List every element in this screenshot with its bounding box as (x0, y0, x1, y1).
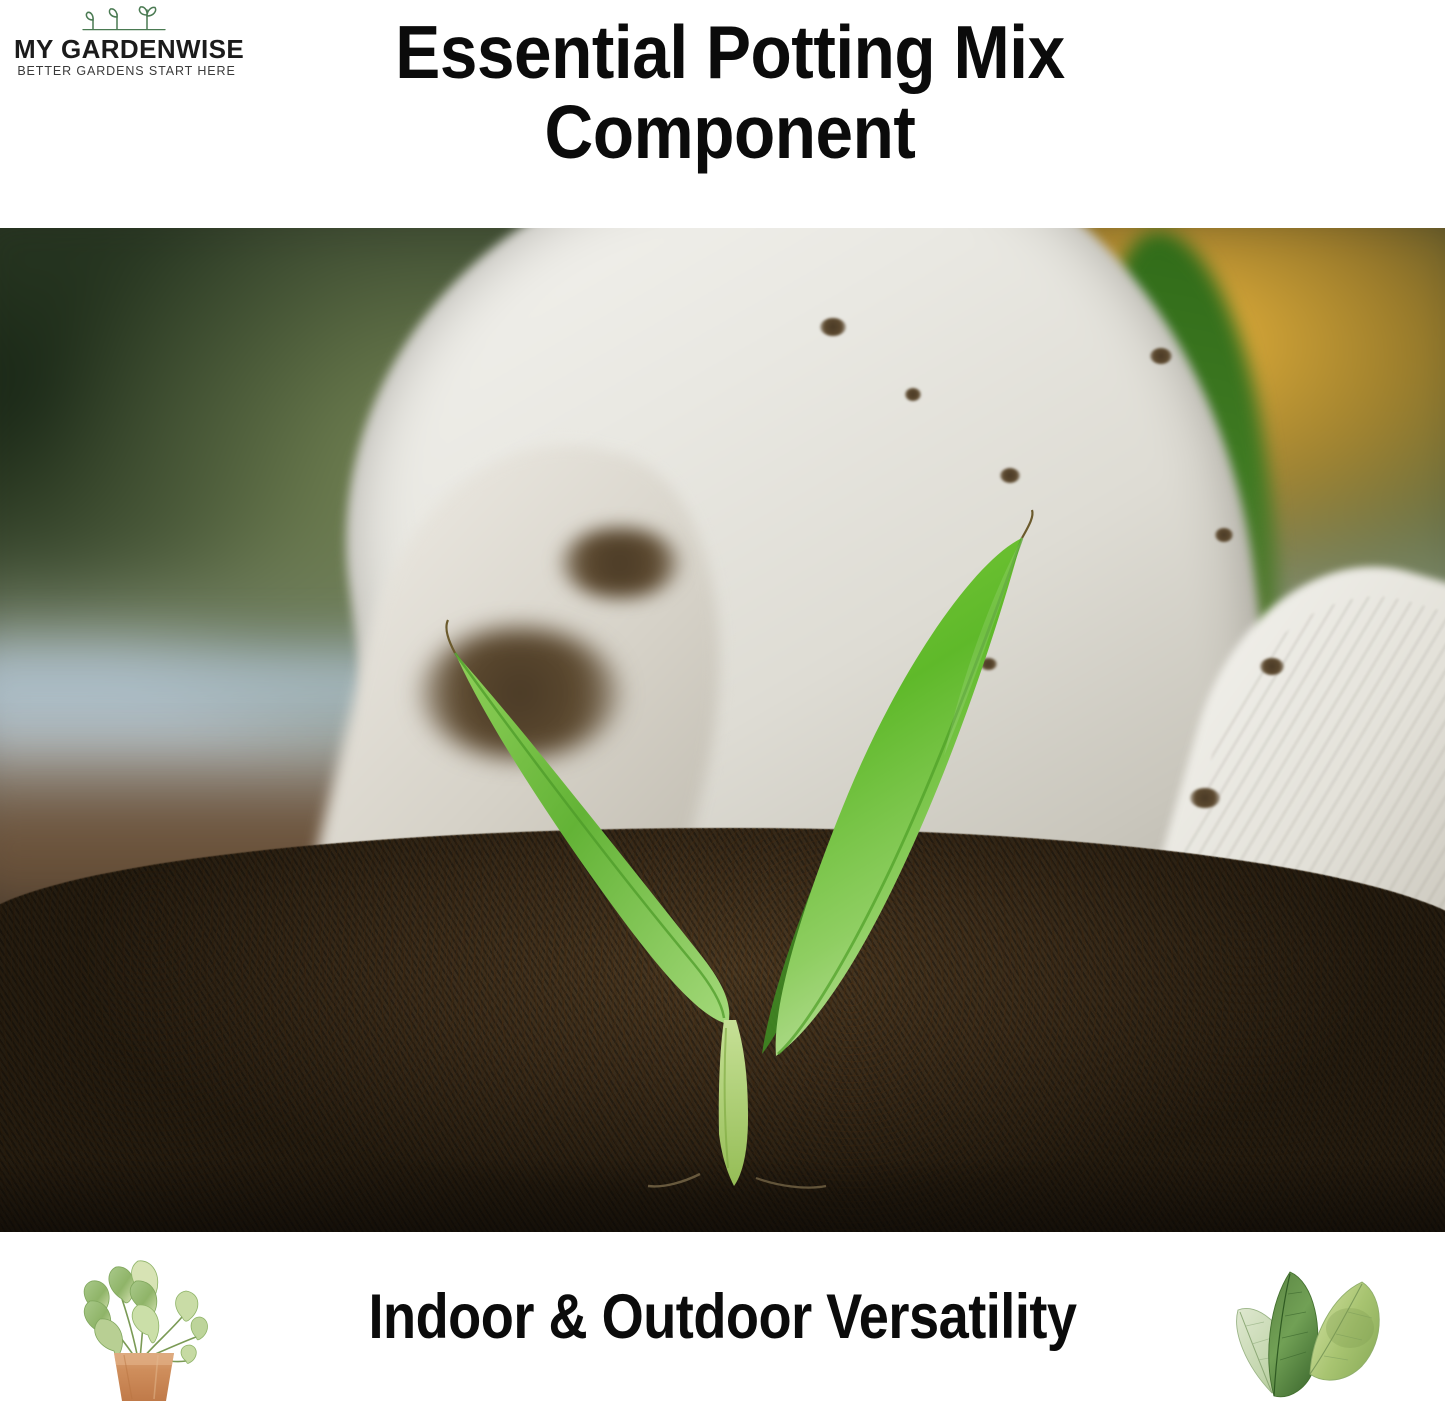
hero-photo: Boosts Aeration Prevents Soil Compaction… (0, 228, 1445, 1232)
leaf-trio-icon (1228, 1248, 1403, 1403)
brand-tagline: BETTER GARDENS START HERE (14, 63, 239, 79)
three-sprouts-icon (77, 4, 177, 34)
footer-tagline: Indoor & Outdoor Versatility (308, 1281, 1138, 1353)
promo-banner: MY GARDENWISE BETTER GARDENS START HERE … (0, 0, 1445, 1403)
brand-logo: MY GARDENWISE BETTER GARDENS START HERE (14, 4, 239, 82)
page-title: Essential Potting Mix Component (298, 12, 1162, 172)
header-bar: MY GARDENWISE BETTER GARDENS START HERE … (0, 0, 1445, 228)
page-title-line-1: Essential Potting Mix (395, 10, 1064, 94)
brand-name: MY GARDENWISE (14, 35, 239, 63)
page-title-line-2: Component (545, 90, 916, 174)
potted-plant-icon (62, 1255, 227, 1403)
seedling-icon (0, 228, 1445, 1232)
